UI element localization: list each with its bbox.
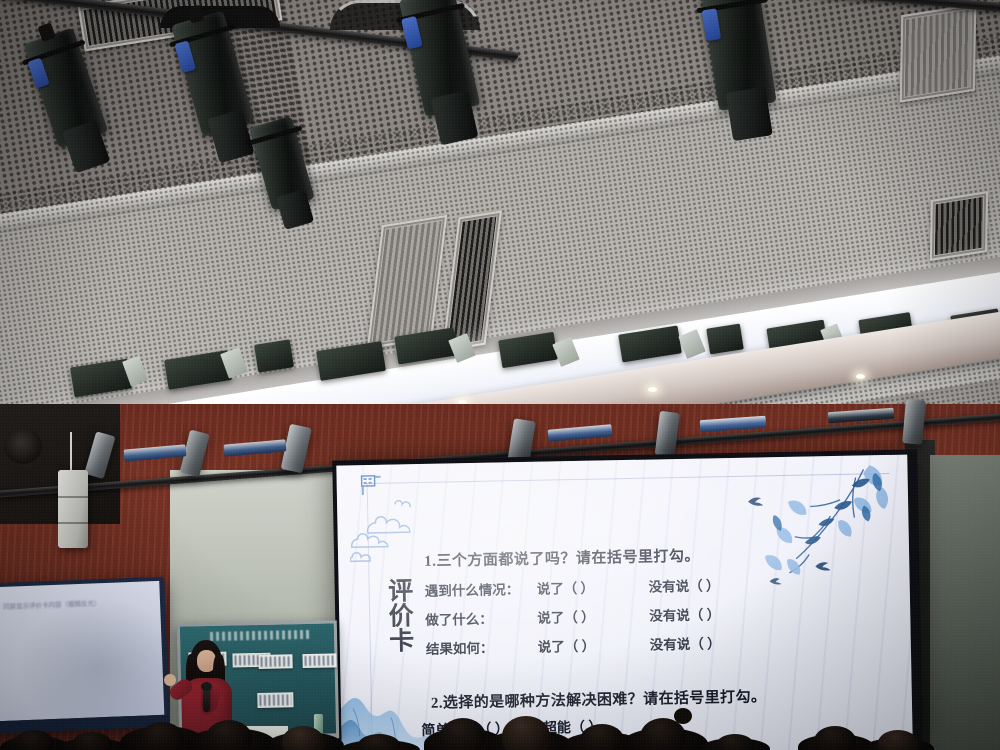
checklist-label: 做了什么： [425,607,537,629]
secondary-display[interactable]: 同屏显示评价卡内容（模糊反光） [0,577,170,734]
checklist-option-no[interactable]: 没有说（ ） [650,632,721,653]
screen-reflection [0,581,164,721]
projection-screen[interactable]: 评价卡 1.三个方面都说了吗？请在括号里打勾。 遇到什么情况： 说了（ ） 没有… [332,449,923,750]
checklist-option-yes[interactable]: 说了（ ） [537,605,649,627]
classroom-photo-scene: 评价卡 1.三个方面都说了吗？请在括号里打勾。 遇到什么情况： 说了（ ） 没有… [0,0,1000,750]
presentation-slide[interactable]: 评价卡 1.三个方面都说了吗？请在括号里打勾。 遇到什么情况： 说了（ ） 没有… [336,455,913,750]
line-array-speaker [58,470,88,548]
blue-ink-mountain-icon [336,672,496,750]
checklist-label: 遇到什么情况： [425,578,537,600]
secondary-display-screen[interactable]: 同屏显示评价卡内容（模糊反光） [0,581,164,721]
blue-ink-flower-branch-icon [743,461,896,624]
presenter-figure [176,634,238,750]
front-desk [246,726,288,750]
question-2-option[interactable]: 超能（ ） [543,717,603,738]
cove-fixture [254,339,294,372]
downlight [856,374,865,379]
stage-spotlight [902,399,926,445]
downlight [648,387,657,392]
microphone-head [201,682,212,691]
checklist-option-yes[interactable]: 说了（ ） [537,576,649,598]
right-side-wall [930,455,1000,750]
checklist-option-no[interactable]: 没有说（ ） [648,574,719,595]
chalkboard-card[interactable] [258,654,292,669]
checklist-option-yes[interactable]: 说了（ ） [538,634,650,656]
question-2-text: 2.选择的是哪种方法解决困难？请在括号里打勾。 [431,683,904,713]
speaker-rigging-rod [70,432,72,472]
hvac-vent [930,191,988,261]
subwoofer [4,428,42,464]
chalkboard-card[interactable] [257,692,293,708]
ceiling [0,0,1000,420]
water-bottle [314,714,323,740]
checklist-label: 结果如何： [426,636,538,658]
table-row[interactable]: 结果如何： 说了（ ） 没有说（ ） [426,629,897,658]
chalkboard-card[interactable] [302,653,336,668]
cove-fixture [706,324,744,355]
presenter-hand-left [164,674,176,686]
slide-vertical-title: 评价卡 [366,548,415,681]
hvac-vent [900,3,977,102]
checklist-option-no[interactable]: 没有说（ ） [649,603,720,624]
